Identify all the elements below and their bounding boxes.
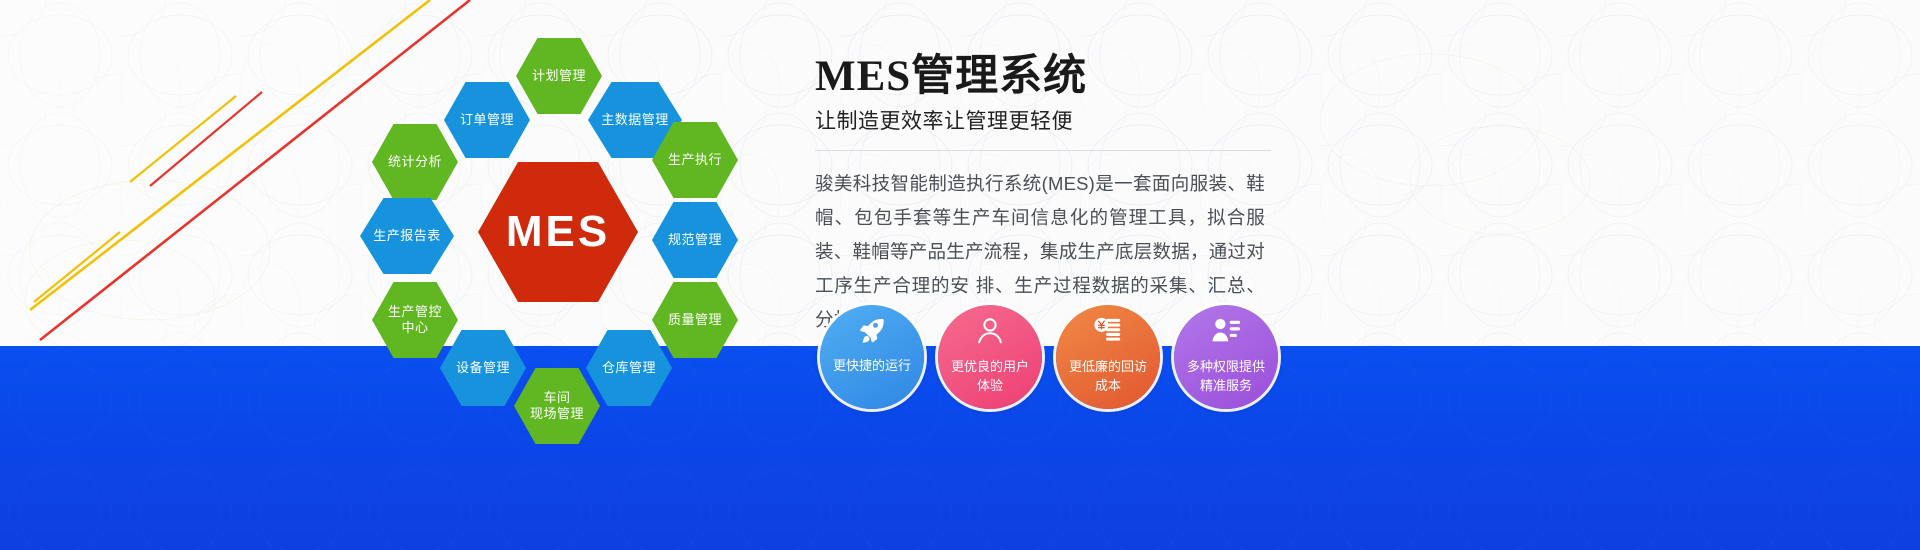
hex-node-production-control-center[interactable]: 生产管控中心 (372, 282, 458, 358)
mes-promo-banner: MES 计划管理 订单管理 主数据管理 统计分析 生产执行 生产报告表 规范管理… (0, 0, 1920, 550)
hex-label: 统计分析 (384, 154, 446, 170)
hex-label: 订单管理 (456, 112, 518, 128)
feature-badge-better-user-experience[interactable]: 更优良的用户体验 (938, 305, 1042, 409)
hex-node-plan-management[interactable]: 计划管理 (516, 38, 602, 114)
hex-node-warehouse-management[interactable]: 仓库管理 (586, 330, 672, 406)
feature-badge-lower-revisit-cost[interactable]: 更低廉的回访成本 (1056, 305, 1160, 409)
hex-label: 质量管理 (664, 312, 726, 328)
page-subtitle: 让制造更效率让管理更轻便 (815, 108, 1295, 136)
badge-label: 更低廉的回访成本 (1063, 357, 1153, 395)
rocket-icon (857, 316, 887, 346)
banner-content: MES管理系统 让制造更效率让管理更轻便 骏美科技智能制造执行系统(MES)是一… (815, 52, 1295, 337)
hex-node-order-management[interactable]: 订单管理 (444, 82, 530, 158)
hex-center-label: MES (502, 224, 614, 240)
hex-label: 设备管理 (452, 360, 514, 376)
hex-node-center[interactable]: MES (478, 162, 638, 302)
badge-label: 更优良的用户体验 (945, 357, 1035, 395)
divider (815, 150, 1271, 151)
hex-label: 主数据管理 (597, 112, 673, 128)
hex-label: 规范管理 (664, 232, 726, 248)
hex-label: 计划管理 (528, 68, 590, 84)
coins-icon (1093, 316, 1123, 346)
badge-label: 多种权限提供精准服务 (1181, 357, 1271, 395)
page-title: MES管理系统 (815, 52, 1295, 102)
hex-node-statistical-analysis[interactable]: 统计分析 (372, 124, 458, 200)
feature-badge-list: 更快捷的运行 更优良的用户体验 (820, 305, 1460, 415)
hex-node-quality-management[interactable]: 质量管理 (652, 282, 738, 358)
hex-label: 生产执行 (664, 152, 726, 168)
hex-node-production-report[interactable]: 生产报告表 (360, 198, 454, 274)
mes-module-hexagon-diagram: MES 计划管理 订单管理 主数据管理 统计分析 生产执行 生产报告表 规范管理… (330, 10, 790, 440)
feature-badge-permissions-precise-service[interactable]: 多种权限提供精准服务 (1174, 305, 1278, 409)
hex-node-workshop-site-management[interactable]: 车间现场管理 (514, 368, 600, 444)
user-list-icon (1211, 316, 1241, 346)
badge-label: 更快捷的运行 (827, 356, 917, 375)
feature-badge-faster-operation[interactable]: 更快捷的运行 (820, 305, 924, 409)
hex-label: 生产报告表 (369, 228, 445, 244)
hex-node-specification-management[interactable]: 规范管理 (652, 202, 738, 278)
hex-label: 仓库管理 (598, 360, 660, 376)
user-icon (975, 316, 1005, 346)
hex-label: 生产管控中心 (384, 304, 446, 336)
hex-node-equipment-management[interactable]: 设备管理 (440, 330, 526, 406)
hex-label: 车间现场管理 (526, 390, 588, 422)
